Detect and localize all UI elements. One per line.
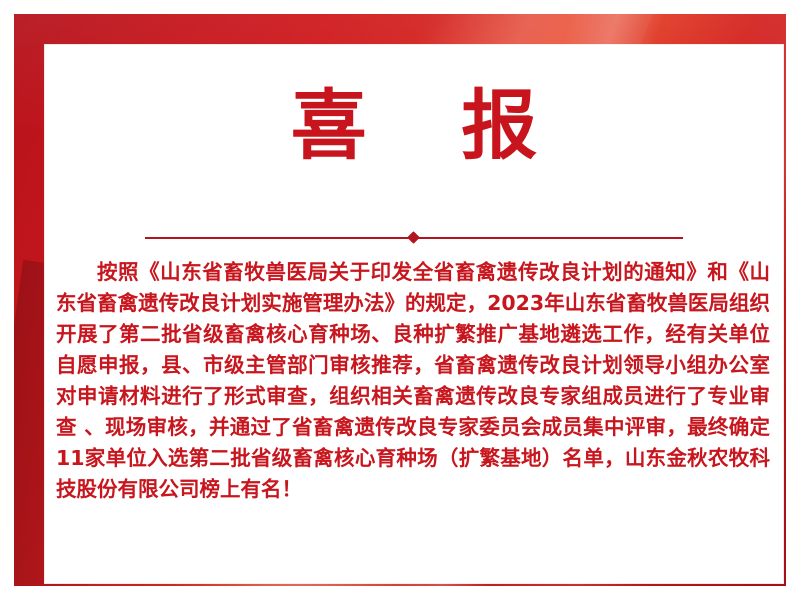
celebration-poster: 喜 报 按照《山东省畜牧兽医局关于印发全省畜禽遗传改良计划的通知》和《山东省畜禽…	[0, 0, 800, 600]
title-divider	[145, 231, 683, 245]
white-content-card: 喜 报 按照《山东省畜牧兽医局关于印发全省畜禽遗传改良计划的通知》和《山东省畜禽…	[45, 45, 783, 583]
red-decorative-frame: 喜 报 按照《山东省畜牧兽医局关于印发全省畜禽遗传改良计划的通知》和《山东省畜禽…	[14, 14, 786, 586]
page-title: 喜 报	[45, 83, 783, 169]
divider-diamond-icon	[407, 231, 420, 244]
announcement-body-text: 按照《山东省畜牧兽医局关于印发全省畜禽遗传改良计划的通知》和《山东省畜禽遗传改良…	[56, 257, 770, 505]
